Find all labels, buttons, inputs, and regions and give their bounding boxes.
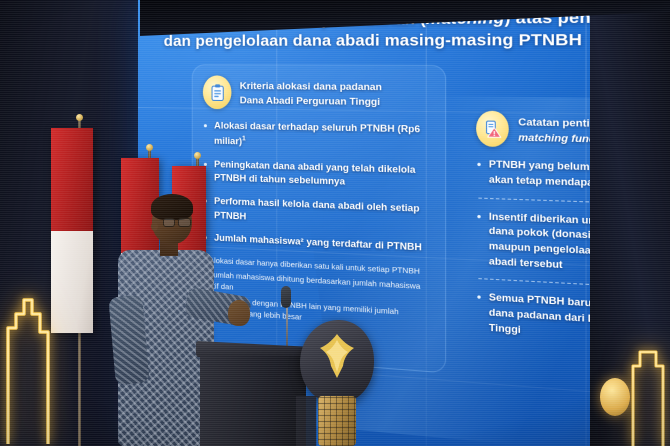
criteria-card-header: Kriteria alokasi dana padanan Dana Abadi… bbox=[203, 76, 434, 113]
flag-finial bbox=[146, 144, 153, 151]
criteria-bullet-text: Alokasi dasar terhadap seluruh PTNBH (Rp… bbox=[214, 121, 420, 147]
lectern-body bbox=[200, 356, 306, 446]
clipboard-icon bbox=[203, 76, 232, 110]
speaker-hand bbox=[228, 300, 250, 326]
speaker-ear bbox=[151, 222, 158, 231]
warning-triangle-icon bbox=[476, 111, 509, 148]
speaker-hair bbox=[151, 194, 193, 220]
criteria-bullet-list: Alokasi dasar terhadap seluruh PTNBH (Rp… bbox=[203, 120, 434, 257]
criteria-bullet: Jumlah mahasiswa² yang terdaftar di PTNB… bbox=[203, 231, 434, 256]
flag-finial bbox=[194, 152, 201, 159]
criteria-title-line2: Dana Abadi Perguruan Tinggi bbox=[240, 93, 382, 109]
gold-neon-ornament bbox=[2, 284, 58, 446]
criteria-bullet-sup: 1 bbox=[242, 135, 246, 142]
notes-title-italic: matching fund bbox=[518, 131, 596, 145]
flag-red-band bbox=[51, 128, 93, 231]
stage-scene: Formula dan kriteria pemadanan (matching… bbox=[0, 0, 670, 446]
criteria-title-line1: Kriteria alokasi dana padanan bbox=[240, 79, 382, 94]
criteria-bullet: Performa hasil kelola dana abadi oleh se… bbox=[203, 194, 434, 232]
flag-finial bbox=[76, 114, 83, 121]
lectern-gold-column bbox=[318, 396, 356, 446]
microphone bbox=[281, 286, 291, 308]
criteria-card-title: Kriteria alokasi dana padanan Dana Abadi… bbox=[240, 76, 382, 108]
criteria-bullet: Peningkatan dana abadi yang telah dikelo… bbox=[203, 157, 434, 192]
slide-title-line2: pengelolaan dana abadi masing-masing PTN… bbox=[195, 31, 582, 50]
gold-stage-disc bbox=[600, 378, 630, 416]
speaker-glasses bbox=[163, 218, 193, 228]
garuda-emblem-icon bbox=[314, 330, 360, 382]
gold-neon-ornament bbox=[628, 336, 668, 446]
criteria-bullet: Alokasi dasar terhadap seluruh PTNBH (Rp… bbox=[203, 120, 434, 154]
